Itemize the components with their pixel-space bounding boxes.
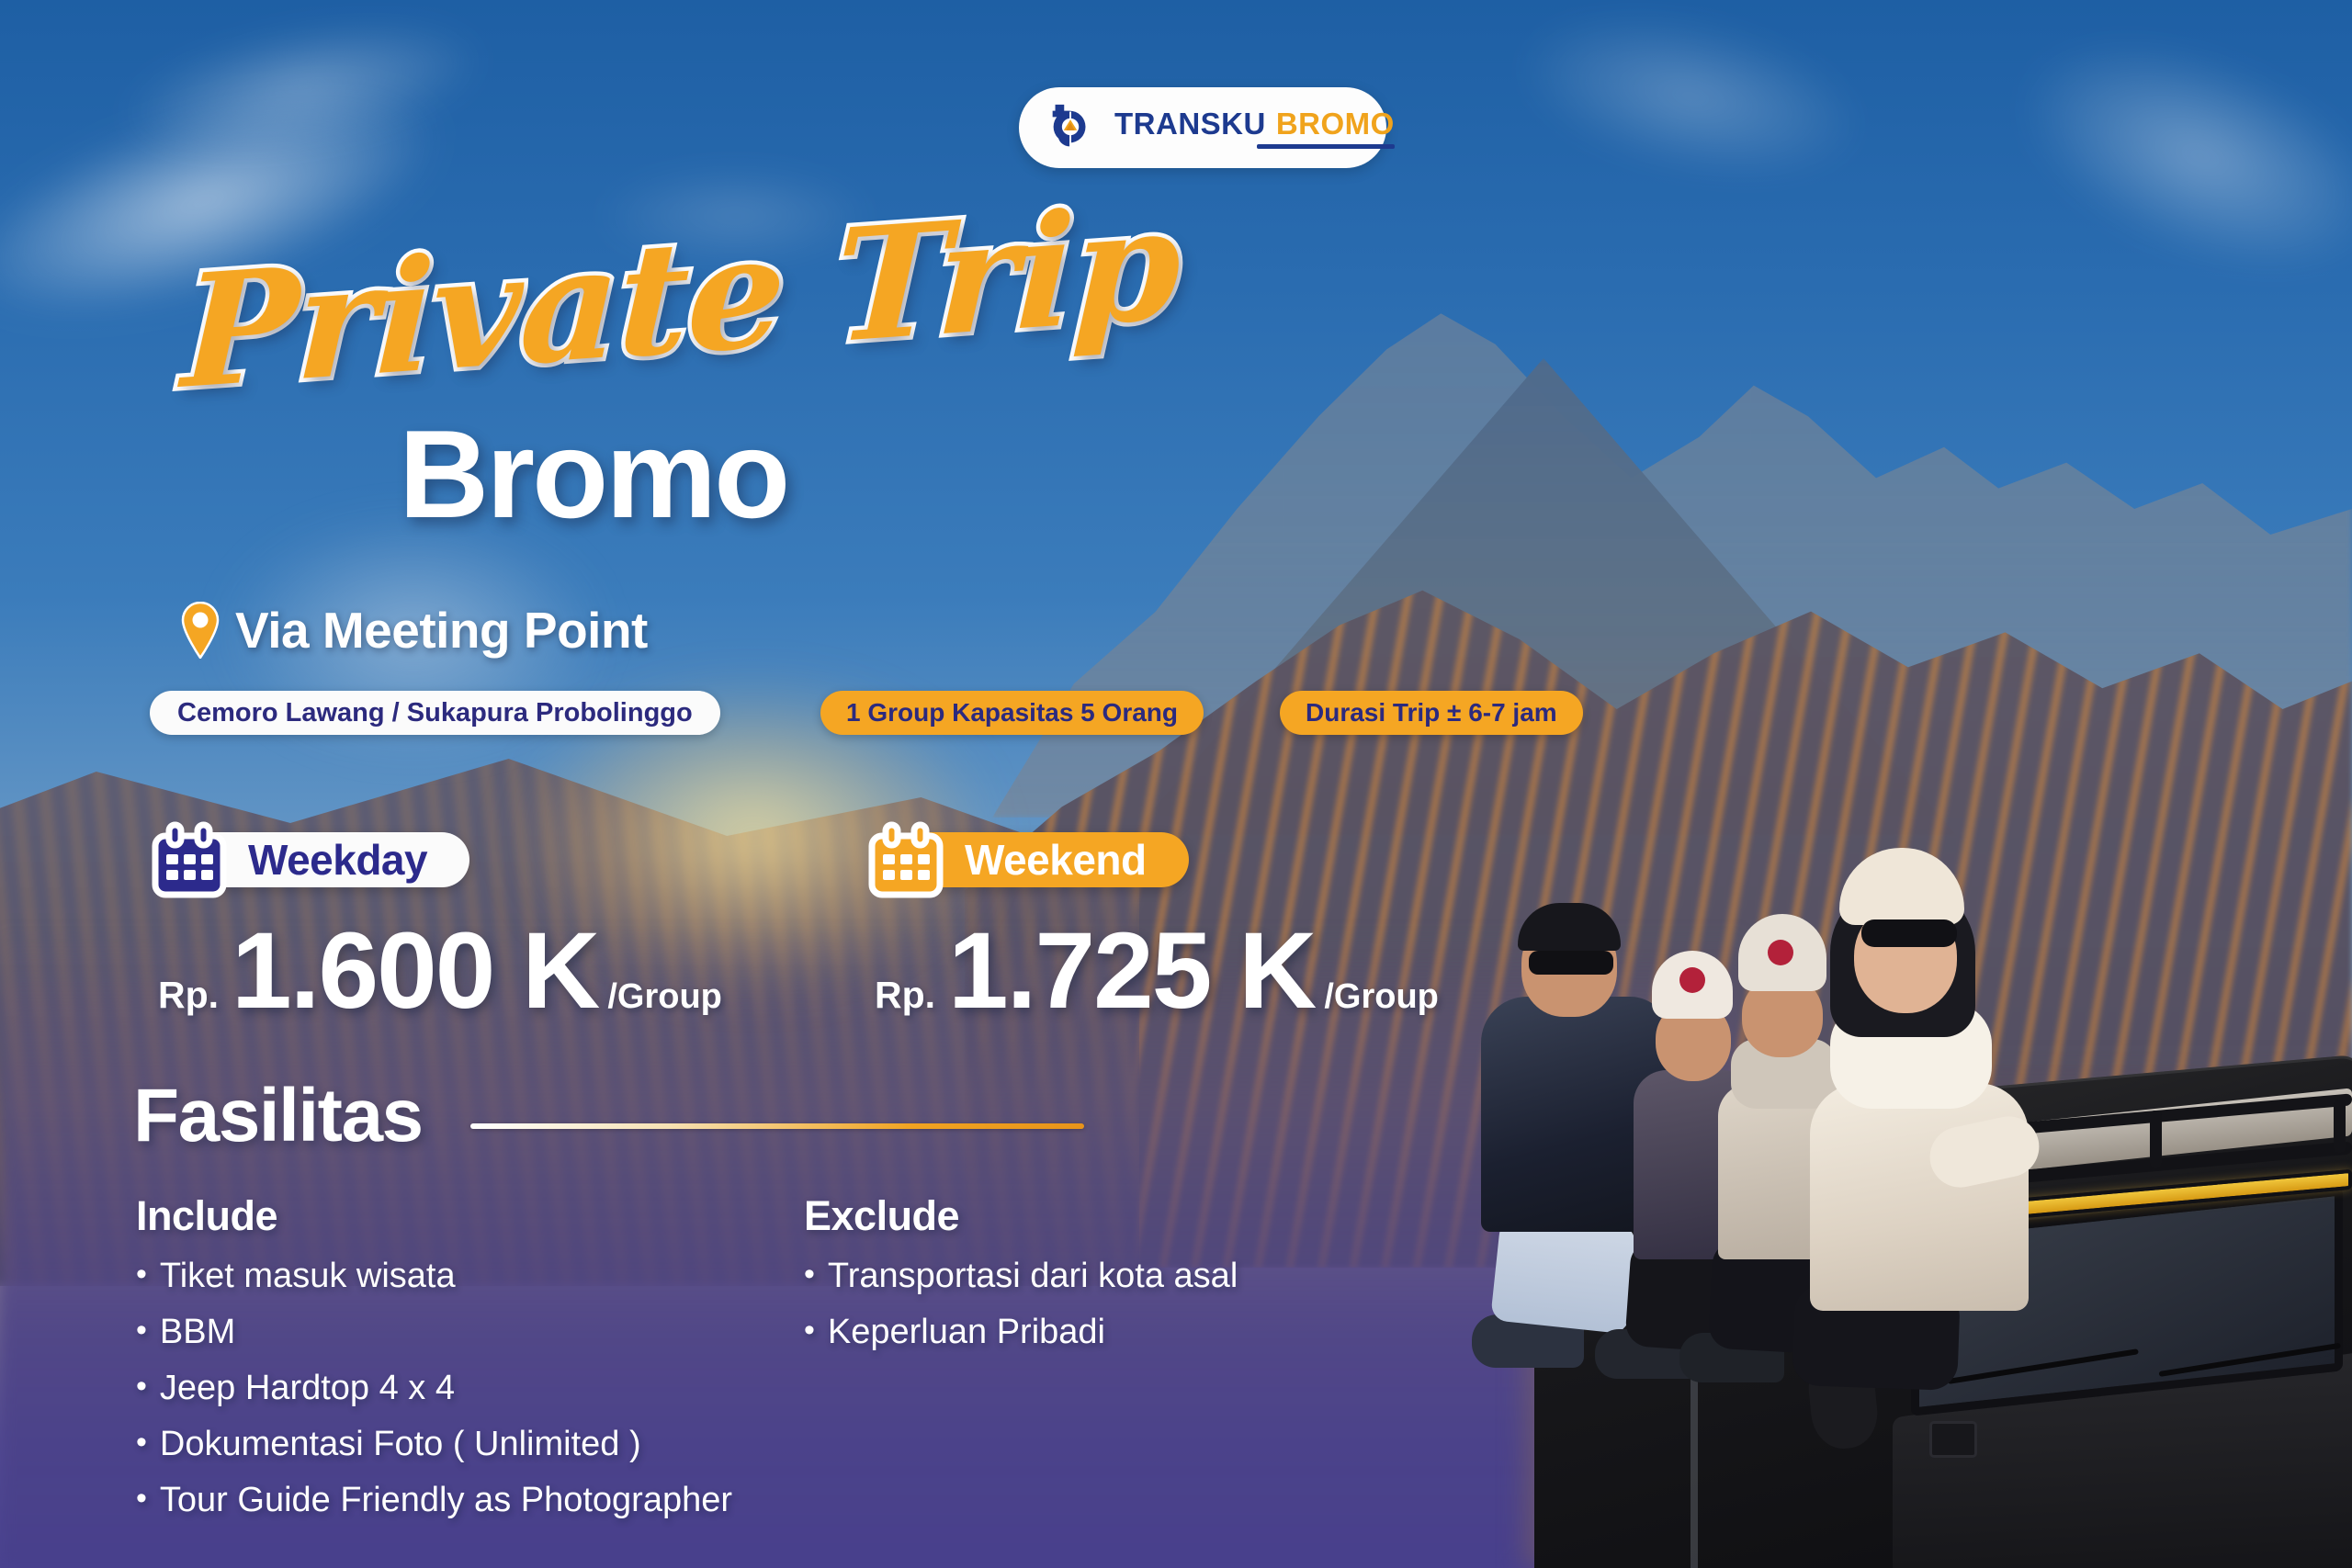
- list-item: • Tour Guide Friendly as Photographer: [136, 1481, 732, 1520]
- list-item-label: Dokumentasi Foto ( Unlimited ): [160, 1425, 641, 1464]
- location-badge[interactable]: Cemoro Lawang / Sukapura Probolinggo: [150, 691, 720, 735]
- brand-wordmark: TRANSKU BROMO: [1114, 107, 1395, 149]
- meeting-point-label: Via Meeting Point: [235, 601, 648, 660]
- meeting-point-heading: Via Meeting Point: [180, 601, 648, 660]
- bullet-icon: •: [136, 1257, 147, 1292]
- child-two-beanie-badge: [1768, 940, 1793, 965]
- list-item: • Keperluan Pribadi: [804, 1313, 1238, 1352]
- bullet-icon: •: [804, 1313, 815, 1348]
- headline-bold: Bromo: [399, 412, 787, 536]
- brand-underline: [1257, 144, 1395, 149]
- jeep-and-family-photo: [1415, 429, 2352, 1568]
- calendar-icon: [864, 818, 948, 902]
- bullet-icon: •: [804, 1257, 815, 1292]
- list-item: • Transportasi dari kota asal: [804, 1257, 1238, 1296]
- brand-logo[interactable]: TRANSKU BROMO: [1019, 87, 1386, 168]
- location-pin-icon: [180, 602, 220, 659]
- weekend-amount: 1.725 K: [948, 917, 1315, 1025]
- exclude-column: Exclude • Transportasi dari kota asal • …: [804, 1192, 1238, 1369]
- father-sunglasses: [1529, 951, 1613, 975]
- list-item: • Tiket masuk wisata: [136, 1257, 732, 1296]
- promo-poster: TRANSKU BROMO Private Trip Bromo Via Mee…: [0, 0, 2352, 1568]
- mother-sunglasses: [1861, 919, 1957, 947]
- list-item: • Jeep Hardtop 4 x 4: [136, 1369, 732, 1408]
- list-item-label: Transportasi dari kota asal: [828, 1257, 1238, 1296]
- jeep-rail-post: [2150, 1111, 2162, 1168]
- list-item-label: Tiket masuk wisata: [160, 1257, 456, 1296]
- mother-torso: [1810, 1083, 2029, 1311]
- list-item-label: Keperluan Pribadi: [828, 1313, 1105, 1352]
- list-item: • BBM: [136, 1313, 732, 1352]
- jeep-aux-light: [1929, 1421, 1977, 1458]
- include-heading: Include: [136, 1192, 732, 1240]
- list-item: • Dokumentasi Foto ( Unlimited ): [136, 1425, 732, 1464]
- transku-bromo-logo-icon: [1043, 99, 1100, 156]
- mother-hat: [1839, 848, 1964, 925]
- list-item-label: Jeep Hardtop 4 x 4: [160, 1369, 455, 1408]
- page-title: Private Trip: [180, 255, 1179, 410]
- weekend-currency: Rp.: [875, 974, 935, 1017]
- bullet-icon: •: [136, 1481, 147, 1517]
- weekday-unit: /Group: [607, 977, 722, 1017]
- exclude-heading: Exclude: [804, 1192, 1238, 1240]
- facilities-heading: Fasilitas: [133, 1073, 1084, 1159]
- include-column: Include • Tiket masuk wisata • BBM • Jee…: [136, 1192, 732, 1537]
- father-hair: [1518, 903, 1621, 951]
- brand-name-secondary: BROMO: [1276, 107, 1395, 141]
- facilities-title: Fasilitas: [133, 1073, 423, 1159]
- weekend-price-block: Weekend Rp. 1.725 K /Group: [864, 818, 1439, 1025]
- bullet-icon: •: [136, 1369, 147, 1404]
- list-item-label: Tour Guide Friendly as Photographer: [160, 1481, 732, 1520]
- calendar-icon: [147, 818, 232, 902]
- weekday-price-block: Weekday Rp. 1.600 K /Group: [147, 818, 722, 1025]
- jeep-rail-post: [2334, 1100, 2346, 1153]
- weekday-amount: 1.600 K: [232, 917, 598, 1025]
- list-item-label: BBM: [160, 1313, 235, 1352]
- capacity-badge[interactable]: 1 Group Kapasitas 5 Orang: [820, 691, 1204, 735]
- child-one-beanie-badge: [1679, 967, 1705, 993]
- facilities-divider: [470, 1123, 1084, 1129]
- brand-name-primary: TRANSKU: [1114, 107, 1266, 141]
- bullet-icon: •: [136, 1313, 147, 1348]
- bullet-icon: •: [136, 1425, 147, 1461]
- weekday-currency: Rp.: [158, 974, 219, 1017]
